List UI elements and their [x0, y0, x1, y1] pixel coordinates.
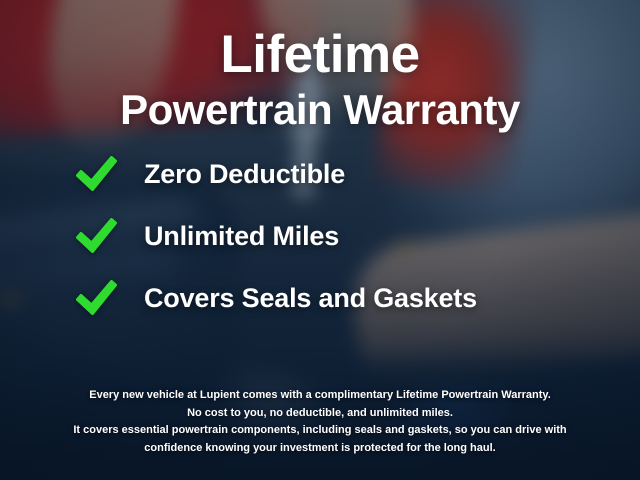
- headline-line-1: Lifetime: [0, 28, 640, 82]
- banner-content: Lifetime Powertrain Warranty Zero Deduct…: [0, 0, 640, 480]
- body-copy-line-3: It covers essential powertrain component…: [26, 422, 614, 440]
- headline: Lifetime Powertrain Warranty: [0, 0, 640, 133]
- body-copy: Every new vehicle at Lupient comes with …: [0, 387, 640, 458]
- feature-item-zero-deductible: Zero Deductible: [74, 155, 640, 193]
- lifetime-powertrain-warranty-banner: Lifetime Powertrain Warranty Zero Deduct…: [0, 0, 640, 480]
- body-copy-line-4: confidence knowing your investment is pr…: [26, 440, 614, 458]
- body-copy-line-2: No cost to you, no deductible, and unlim…: [26, 405, 614, 423]
- features-list: Zero Deductible Unlimited Miles Covers S…: [0, 155, 640, 317]
- feature-item-unlimited-miles: Unlimited Miles: [74, 217, 640, 255]
- green-check-icon: [74, 279, 118, 317]
- feature-label: Unlimited Miles: [144, 221, 339, 252]
- body-copy-line-1: Every new vehicle at Lupient comes with …: [26, 387, 614, 405]
- headline-line-2: Powertrain Warranty: [0, 86, 640, 133]
- green-check-icon: [74, 217, 118, 255]
- green-check-icon: [74, 155, 118, 193]
- feature-item-covers-seals-and-gaskets: Covers Seals and Gaskets: [74, 279, 640, 317]
- feature-label: Covers Seals and Gaskets: [144, 283, 477, 314]
- feature-label: Zero Deductible: [144, 159, 345, 190]
